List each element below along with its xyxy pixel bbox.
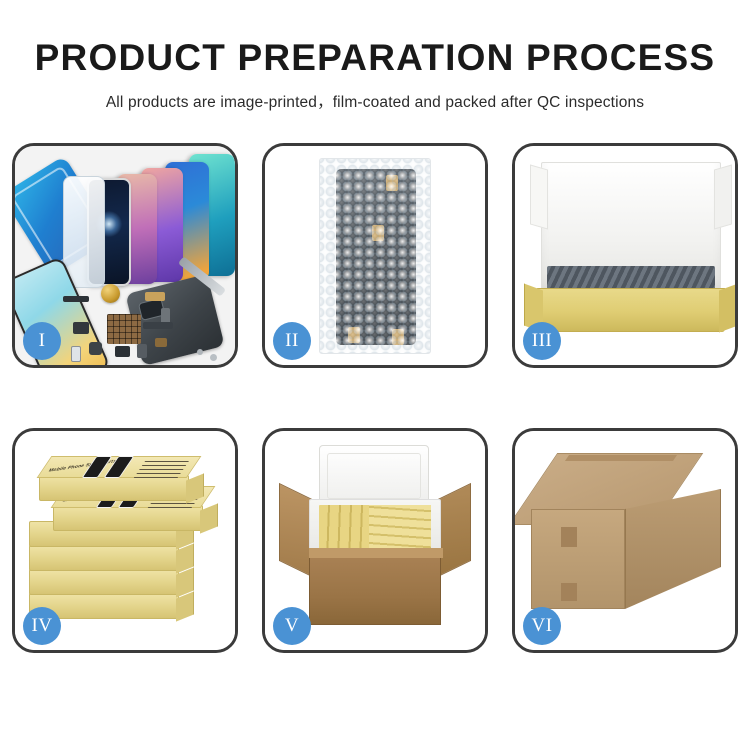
retail-box-top: Mobile Phone Spare Parts xyxy=(39,475,189,501)
component-part xyxy=(143,322,173,329)
step-badge-1: I xyxy=(23,322,61,360)
carton-tape-tab xyxy=(561,527,577,547)
bubble-texture xyxy=(320,159,430,353)
retail-box-top: Mobile Phone Spare Parts xyxy=(53,505,203,531)
step-badge-4: IV xyxy=(23,607,61,645)
step-badge-3: III xyxy=(523,322,561,360)
step-panel-4: Mobile Phone Spare Parts Mobile Phone Sp… xyxy=(12,428,238,653)
screw-part xyxy=(197,349,203,355)
retail-box-stack: Mobile Phone Spare Parts Mobile Phone Sp… xyxy=(29,453,221,633)
step-panel-3: III xyxy=(512,143,738,368)
carton-tape-seam xyxy=(565,455,677,461)
component-part xyxy=(115,346,130,357)
retail-box-label: Mobile Phone Spare Parts xyxy=(37,456,202,478)
step-panel-6: VI xyxy=(512,428,738,653)
step-badge-5: V xyxy=(273,607,311,645)
component-part xyxy=(63,296,89,302)
tempered-glass-sheet xyxy=(63,176,105,288)
carton-side-face xyxy=(625,489,721,609)
retail-box xyxy=(29,569,179,595)
retail-box xyxy=(29,545,179,571)
step-badge-6: VI xyxy=(523,607,561,645)
phone-screen-fan xyxy=(85,152,235,292)
component-part xyxy=(145,292,165,301)
copper-coil-part xyxy=(101,284,120,303)
bubble-wrapped-screen xyxy=(319,158,431,354)
carton-tape-tab xyxy=(561,583,577,601)
step-panel-5: V xyxy=(262,428,488,653)
header: PRODUCT PREPARATION PROCESS All products… xyxy=(0,0,750,112)
kraft-box-base xyxy=(537,288,725,332)
process-step-grid: I II xyxy=(12,143,738,678)
component-part xyxy=(137,344,147,358)
step-panel-2: II xyxy=(262,143,488,368)
chip-array-part xyxy=(107,314,141,344)
component-part xyxy=(155,338,167,347)
page-title: PRODUCT PREPARATION PROCESS xyxy=(0,38,750,79)
page-subtitle: All products are image-printed，film-coat… xyxy=(0,90,750,112)
packed-retail-boxes xyxy=(369,505,431,551)
component-part xyxy=(71,346,81,362)
foam-lid xyxy=(319,445,429,507)
product-preparation-infographic: PRODUCT PREPARATION PROCESS All products… xyxy=(0,0,750,750)
component-part xyxy=(73,322,89,334)
step-badge-2: II xyxy=(273,322,311,360)
step-panel-1: I xyxy=(12,143,238,368)
component-part xyxy=(89,342,102,355)
screw-part xyxy=(210,354,217,361)
box-label-spec-lines xyxy=(132,461,189,480)
carton-front-face xyxy=(531,509,625,609)
carton-body xyxy=(309,555,441,625)
